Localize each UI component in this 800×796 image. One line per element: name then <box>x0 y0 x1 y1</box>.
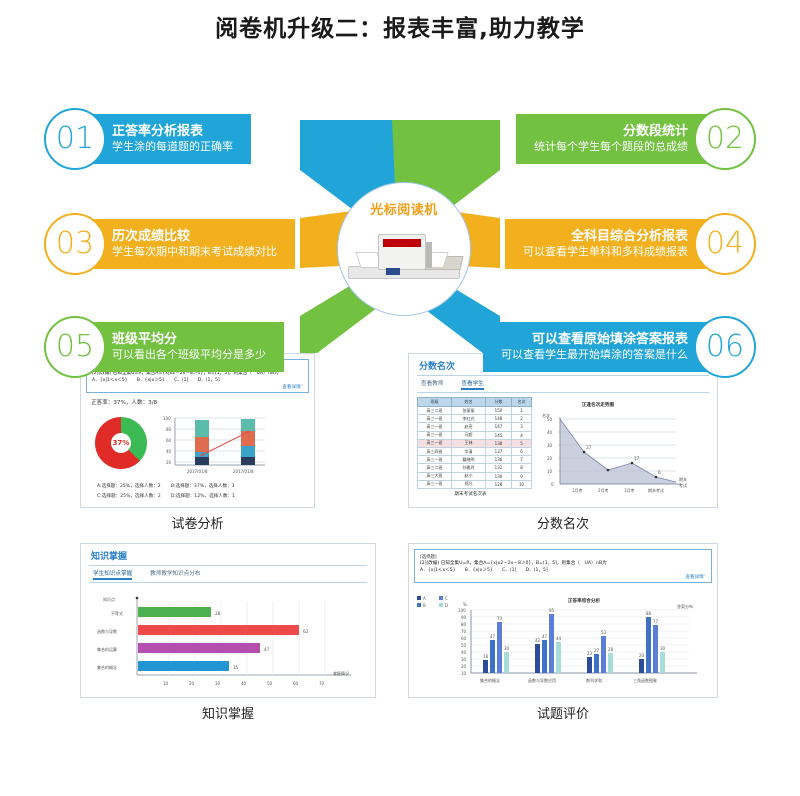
feature-title-02: 分数段统计 <box>534 124 688 140</box>
tab-view-teacher[interactable]: 查看教师 <box>421 379 443 390</box>
tab-student-knowledge[interactable]: 学生知识点掌握 <box>93 569 132 580</box>
svg-text:20: 20 <box>547 456 553 461</box>
table-row: 高三一班马超1454 <box>418 431 532 439</box>
feature-banner-03: 历次成绩比较 学生每次期中和期末考试成绩对比 <box>86 219 295 269</box>
svg-text:30: 30 <box>461 657 467 662</box>
feature-number-03: 03 <box>44 213 106 275</box>
svg-text:数列求和: 数列求和 <box>586 677 602 683</box>
svg-text:27: 27 <box>586 445 592 450</box>
feature-item-04[interactable]: 04 全科目综合分析报表 可以查看学生单科和多科成绩报表 <box>505 213 756 275</box>
feature-banner-02: 分数段统计 统计每个学生每个题段的总成绩 <box>516 114 714 164</box>
feature-number-06: 06 <box>694 316 756 378</box>
svg-text:40: 40 <box>547 430 553 435</box>
svg-text:函数与导数应用: 函数与导数应用 <box>528 677 556 683</box>
item-eval-frame: [选择题] [2](改编) 已知全集U=R，集合A={x|x2－2x－8＞0}，… <box>408 543 718 698</box>
svg-text:20: 20 <box>461 664 467 669</box>
option-b-label: B:选择题：37%，选择人数：3 <box>171 483 243 490</box>
option-d-label: D:选择题：12%，选择人数：1 <box>171 493 243 500</box>
shot-score-rank[interactable]: 分数名次 查看教师 查看学生 班级 姓名 分数 名次 高三二班张丽丽 <box>408 353 718 532</box>
feature-item-02[interactable]: 02 分数段统计 统计每个学生每个题段的总成绩 <box>516 108 756 170</box>
svg-text:集合的运算: 集合的运算 <box>97 646 117 652</box>
svg-text:3月考: 3月考 <box>624 487 635 493</box>
svg-text:集合的概念: 集合的概念 <box>97 664 117 670</box>
svg-text:30: 30 <box>504 646 510 651</box>
screenshot-gallery: [选择题] [2](改编) 已知全集U=R，集合A={x|x2－2x－8＞0}，… <box>0 353 800 783</box>
shot-item-eval[interactable]: [选择题] [2](改编) 已知全集U=R，集合A={x|x2－2x－8＞0}，… <box>408 543 718 722</box>
shot-caption-item-eval: 试题评价 <box>408 703 718 722</box>
svg-text:40: 40 <box>461 650 467 655</box>
x-axis-label: 掌握情况 <box>333 670 349 676</box>
table-row: 高三一班戴晓明1367 <box>418 456 532 464</box>
svg-text:77: 77 <box>653 619 659 624</box>
eval-corner-note: 答案分布 <box>677 603 693 609</box>
trend-title: 正逢名次走势图 <box>582 401 615 408</box>
knowledge-tabs[interactable]: 学生知识点掌握 教师教学知识点分布 <box>93 569 375 580</box>
svg-text:B: B <box>423 603 426 608</box>
feature-number-01: 01 <box>44 108 106 170</box>
svg-text:95: 95 <box>549 608 555 613</box>
svg-text:2月考: 2月考 <box>598 487 609 493</box>
svg-text:47: 47 <box>264 647 270 652</box>
feature-title-03: 历次成绩比较 <box>112 229 277 245</box>
svg-text:%: % <box>463 602 467 607</box>
correct-rate-text: 正答率：37%，人数：3/8 <box>91 398 314 406</box>
svg-text:47: 47 <box>542 634 548 639</box>
table-row: 高三大班赵小1309 <box>418 472 532 480</box>
feature-item-06[interactable]: 06 可以查看原始填涂答案报表 可以查看学生最开始填涂的答案是什么 <box>483 316 756 378</box>
svg-text:40: 40 <box>166 449 172 454</box>
shot-paper-analysis[interactable]: [选择题] [2](改编) 已知全集U=R，集合A={x|x2－2x－8＞0}，… <box>80 353 315 532</box>
svg-text:62: 62 <box>303 629 309 634</box>
svg-text:集合的概念: 集合的概念 <box>480 677 500 683</box>
svg-text:53: 53 <box>601 630 607 635</box>
question-line-2: A．{x|1＜x＜5} B．{x|x＞5} C．(1] D．(1，5] <box>420 567 706 574</box>
svg-text:30: 30 <box>547 443 553 448</box>
svg-text:100: 100 <box>458 608 466 613</box>
table-row: 高三四班华清1376 <box>418 447 532 455</box>
donut-center-value: 37% <box>95 417 147 469</box>
view-detail-link[interactable]: 查看详情˅ <box>92 384 303 390</box>
page-title: 阅卷机升级二：报表丰富,助力教学 <box>0 0 800 48</box>
svg-text:80: 80 <box>461 622 467 627</box>
view-detail-link[interactable]: 查看详情˅ <box>420 574 706 580</box>
table-row: 高三一班李红光1482 <box>418 415 532 423</box>
table-header-row: 班级 姓名 分数 名次 <box>418 398 532 407</box>
feature-subtitle-06: 可以查看学生最开始填涂的答案是什么 <box>501 348 688 362</box>
svg-text:88: 88 <box>646 611 652 616</box>
svg-text:100: 100 <box>163 416 171 421</box>
svg-text:D: D <box>445 603 448 608</box>
feature-subtitle-03: 学生每次期中和期末考试成绩对比 <box>112 245 277 259</box>
option-a-label: A:选择题：25%，选择人数：2 <box>97 483 169 490</box>
svg-text:60: 60 <box>461 636 467 641</box>
tabs-divider <box>89 582 367 583</box>
feature-number-02: 02 <box>694 108 756 170</box>
svg-text:73: 73 <box>497 616 503 621</box>
svg-text:47: 47 <box>490 634 496 639</box>
tab-view-student[interactable]: 查看学生 <box>461 379 483 390</box>
table-row: 高三一班郑凡12810 <box>418 480 532 488</box>
feature-number-05: 05 <box>44 316 106 378</box>
title-divider <box>89 565 367 566</box>
feature-banner-04: 全科目综合分析报表 可以查看学生单科和多科成绩报表 <box>505 219 714 269</box>
score-rank-table-caption: 期末考试名次表 <box>409 491 532 497</box>
table-row-highlighted: 高三一班王林1385 <box>418 439 532 447</box>
shot-caption-paper-analysis: 试卷分析 <box>80 513 315 532</box>
feature-title-05: 班级平均分 <box>112 332 266 348</box>
svg-text:42: 42 <box>535 638 541 643</box>
table-row: 高三一班赵亮1473 <box>418 423 532 431</box>
col-name: 姓名 <box>452 398 486 407</box>
svg-text:20: 20 <box>189 681 195 686</box>
table-row: 高三二班张丽丽1501 <box>418 407 532 415</box>
svg-text:20: 20 <box>166 460 172 465</box>
feature-subtitle-04: 可以查看学生单科和多科成绩报表 <box>523 245 688 259</box>
option-distribution-legend: A:选择题：25%，选择人数：2 B:选择题：37%，选择人数：3 C:选择题：… <box>95 481 245 502</box>
knowledge-title: 知识掌握 <box>91 549 375 562</box>
item-eval-question: [选择题] [2](改编) 已知全集U=R，集合A={x|x2－2x－8＞0}，… <box>414 549 712 583</box>
feature-banner-06: 可以查看原始填涂答案报表 可以查看学生最开始填涂的答案是什么 <box>483 322 714 372</box>
y-axis-label: 知识点 <box>103 596 115 602</box>
feature-number-04: 04 <box>694 213 756 275</box>
shot-caption-score-rank: 分数名次 <box>408 513 718 532</box>
feature-banner-01: 正答率分析报表 学生涂的每道题的正确率 <box>86 114 251 164</box>
svg-text:60: 60 <box>293 681 299 686</box>
svg-text:28: 28 <box>608 647 614 652</box>
svg-text:60: 60 <box>166 438 172 443</box>
svg-text:90: 90 <box>461 615 467 620</box>
svg-text:30: 30 <box>660 646 666 651</box>
svg-text:35: 35 <box>233 665 239 670</box>
svg-text:27: 27 <box>594 648 600 653</box>
svg-text:期末: 期末 <box>679 476 687 482</box>
svg-text:6: 6 <box>658 470 661 475</box>
svg-text:10: 10 <box>461 671 467 676</box>
svg-text:不等式: 不等式 <box>111 610 123 616</box>
svg-text:50: 50 <box>461 643 467 648</box>
svg-text:考试: 考试 <box>679 482 687 488</box>
shot-knowledge[interactable]: 知识掌握 学生知识点掌握 教师教学知识点分布 知识点 28 <box>80 543 376 722</box>
question-line-1: [2](改编) 已知全集U=R，集合A={x|x2－2x－8＞0}，B=(1，5… <box>420 560 706 567</box>
infographic: 光标阅读机 01 正答率分析报表 学生涂的每道题的正确率 02 分数段统计 统计… <box>0 48 800 353</box>
feature-subtitle-02: 统计每个学生每个题段的总成绩 <box>534 140 688 154</box>
svg-text:1月考: 1月考 <box>572 487 583 493</box>
table-row: 高三二班孙雅玲1328 <box>418 464 532 472</box>
feature-subtitle-05: 可以看出各个班级平均分是多少 <box>112 348 266 362</box>
svg-text:期末考试: 期末考试 <box>648 487 664 493</box>
hub-circle: 光标阅读机 <box>337 182 471 316</box>
svg-text:40: 40 <box>241 681 247 686</box>
svg-text:函数与导数: 函数与导数 <box>97 628 117 634</box>
eval-chart-title: 正答率综合分析 <box>568 597 601 604</box>
col-score: 分数 <box>486 398 512 407</box>
svg-text:50: 50 <box>547 417 553 422</box>
svg-text:80: 80 <box>166 427 172 432</box>
svg-text:50: 50 <box>267 681 273 686</box>
svg-text:2017/01/8: 2017/01/8 <box>233 469 254 474</box>
feature-subtitle-01: 学生涂的每道题的正确率 <box>112 140 233 154</box>
svg-text:18: 18 <box>483 654 489 659</box>
svg-text:10: 10 <box>547 469 553 474</box>
feature-title-04: 全科目综合分析报表 <box>523 229 688 245</box>
hub-label: 光标阅读机 <box>370 199 438 218</box>
tab-teacher-knowledge[interactable]: 教师教学知识点分布 <box>150 569 200 580</box>
svg-text:A: A <box>423 596 426 601</box>
feature-title-06: 可以查看原始填涂答案报表 <box>501 332 688 348</box>
history-stacked-chart: 10080 6040 20 2017/01/8 2017/01/8 <box>153 410 271 476</box>
svg-text:0: 0 <box>551 482 554 487</box>
col-class: 班级 <box>418 398 452 407</box>
svg-text:28: 28 <box>215 611 221 616</box>
svg-text:10: 10 <box>163 681 169 686</box>
score-rank-tabs[interactable]: 查看教师 查看学生 <box>421 379 717 390</box>
svg-text:23: 23 <box>587 651 593 656</box>
feature-item-01[interactable]: 01 正答率分析报表 学生涂的每道题的正确率 <box>44 108 251 170</box>
rank-trend-chart: 正逢名次走势图 名次 5040 3020 100 2717 6 <box>536 397 696 507</box>
feature-item-03[interactable]: 03 历次成绩比较 学生每次期中和期末考试成绩对比 <box>44 213 295 275</box>
svg-text:70: 70 <box>461 629 467 634</box>
feature-title-01: 正答率分析报表 <box>112 124 233 140</box>
score-rank-table[interactable]: 班级 姓名 分数 名次 高三二班张丽丽1501 高三一班李红光1482 高三一班… <box>417 397 532 489</box>
question-line-2: A．{x|1＜x＜5} B．{x|x＞5} C．(1] D．(1，5] <box>92 377 303 384</box>
option-c-label: C:选择题：25%，选择人数：2 <box>97 493 169 500</box>
scanner-machine-icon <box>344 224 464 286</box>
knowledge-bar-chart: 知识点 28 不等式 62 函数与导数 47 集合的运算 <box>81 587 371 695</box>
feature-item-05[interactable]: 05 班级平均分 可以看出各个班级平均分是多少 <box>44 316 284 378</box>
svg-text:三角函数图象: 三角函数图象 <box>633 677 657 683</box>
item-eval-grouped-bar-chart: A C B D 正答率综合分析 答案分布 % 10090 8070 6050 <box>409 590 715 688</box>
svg-text:17: 17 <box>634 456 640 461</box>
feature-banner-05: 班级平均分 可以看出各个班级平均分是多少 <box>86 322 284 372</box>
svg-text:2017/01/8: 2017/01/8 <box>187 469 208 474</box>
svg-text:C: C <box>445 596 448 601</box>
col-rank: 名次 <box>512 398 532 407</box>
svg-text:20: 20 <box>639 653 645 658</box>
shot-caption-knowledge: 知识掌握 <box>80 703 376 722</box>
svg-text:70: 70 <box>319 681 325 686</box>
svg-text:44: 44 <box>556 636 562 641</box>
knowledge-frame: 知识掌握 学生知识点掌握 教师教学知识点分布 知识点 28 <box>80 543 376 698</box>
tabs-divider <box>417 392 709 393</box>
svg-text:30: 30 <box>215 681 221 686</box>
